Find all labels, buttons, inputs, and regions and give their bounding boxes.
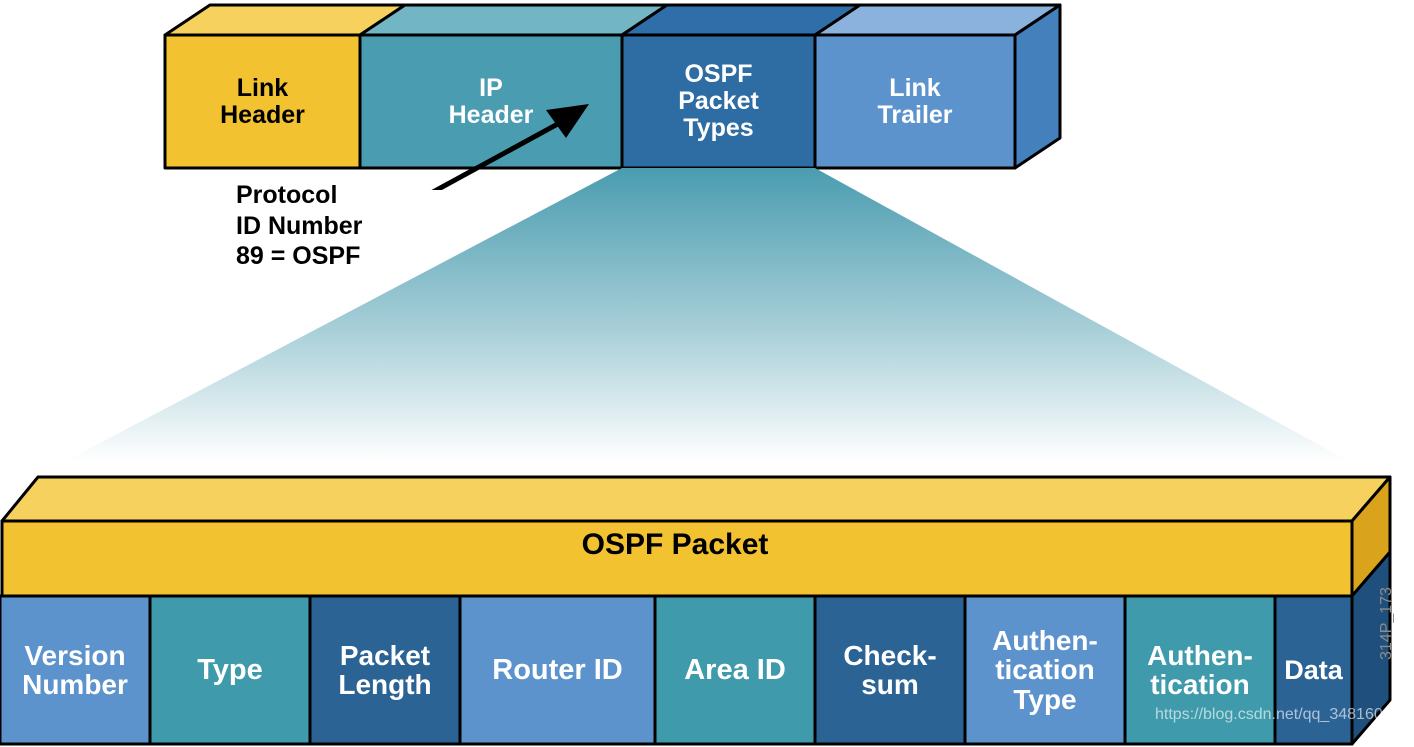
link-trailer-face — [815, 35, 1015, 168]
link-header-face — [165, 35, 360, 168]
ospf-header-top — [2, 477, 1390, 521]
ospf-header-face — [2, 521, 1352, 596]
ospf-packet-diagram: OSPF Packet VersionNumber Type PacketLen… — [0, 455, 1414, 747]
field-packet-length-cell — [310, 596, 460, 744]
field-authentication-type-cell — [965, 596, 1125, 744]
ospf-packet-graphic — [0, 455, 1414, 747]
ospf-packet-types-face — [622, 35, 815, 168]
expansion-funnel — [0, 160, 1414, 480]
field-authentication-cell — [1125, 596, 1275, 744]
link-trailer-side — [1015, 5, 1060, 168]
field-router-id-cell — [460, 596, 655, 744]
field-area-id-cell — [655, 596, 815, 744]
funnel-shape — [64, 168, 1350, 462]
ip-header-top — [360, 5, 667, 35]
field-type-cell — [150, 596, 310, 744]
field-version-number-cell — [0, 596, 150, 744]
field-checksum-cell — [815, 596, 965, 744]
ip-header-face — [360, 35, 622, 168]
field-data-cell — [1275, 596, 1352, 744]
